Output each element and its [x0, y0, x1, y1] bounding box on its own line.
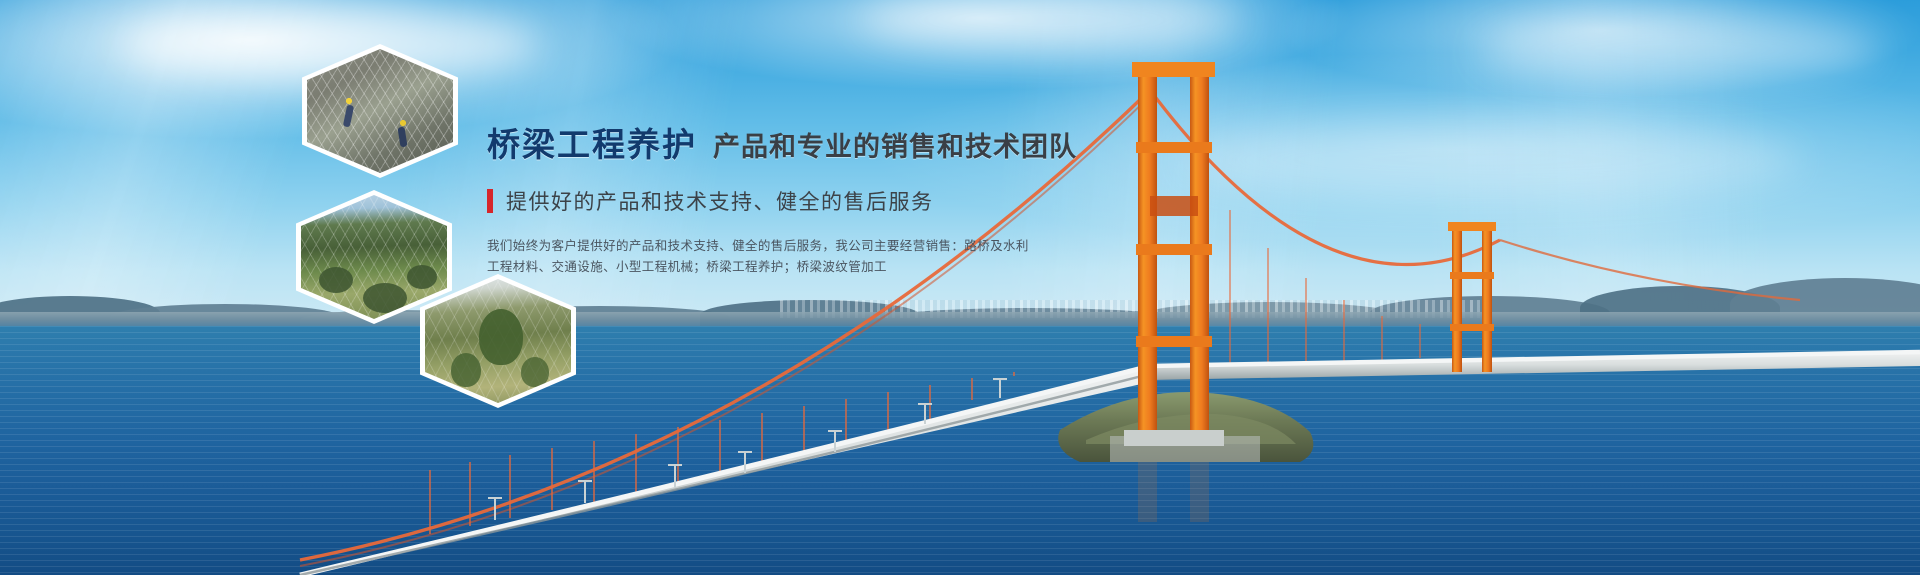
tagline-row: 提供好的产品和技术支持、健全的售后服务 [487, 186, 1107, 216]
hero-banner: 桥梁工程养护 产品和专业的销售和技术团队 提供好的产品和技术支持、健全的售后服务… [0, 0, 1920, 575]
body-line-2: 工程材料、交通设施、小型工程机械；桥梁工程养护；桥梁波纹管加工 [487, 257, 919, 278]
tagline-text: 提供好的产品和技术支持、健全的售后服务 [506, 186, 934, 216]
page-title: 桥梁工程养护 [487, 118, 697, 166]
headline-subtitle: 产品和专业的销售和技术团队 [713, 125, 1077, 164]
hex-photo-rockfall-netting-workers [302, 44, 458, 178]
cloud-wisp [1180, 120, 1800, 200]
body-paragraph: 我们始终为客户提供好的产品和技术支持、健全的售后服务，我公司主要经营销售：路桥及… [487, 236, 919, 278]
hero-copy: 桥梁工程养护 产品和专业的销售和技术团队 提供好的产品和技术支持、健全的售后服务… [487, 118, 1107, 278]
worker-figure [343, 105, 354, 128]
accent-bar [487, 189, 493, 213]
cloud-wisp [1480, 18, 1880, 82]
worker-figure [397, 127, 407, 148]
body-line-1: 我们始终为客户提供好的产品和技术支持、健全的售后服务，我公司主要经营销售：路桥及… [487, 236, 919, 257]
sea-shimmer [0, 326, 1920, 575]
headline-row: 桥梁工程养护 产品和专业的销售和技术团队 [487, 118, 1107, 166]
